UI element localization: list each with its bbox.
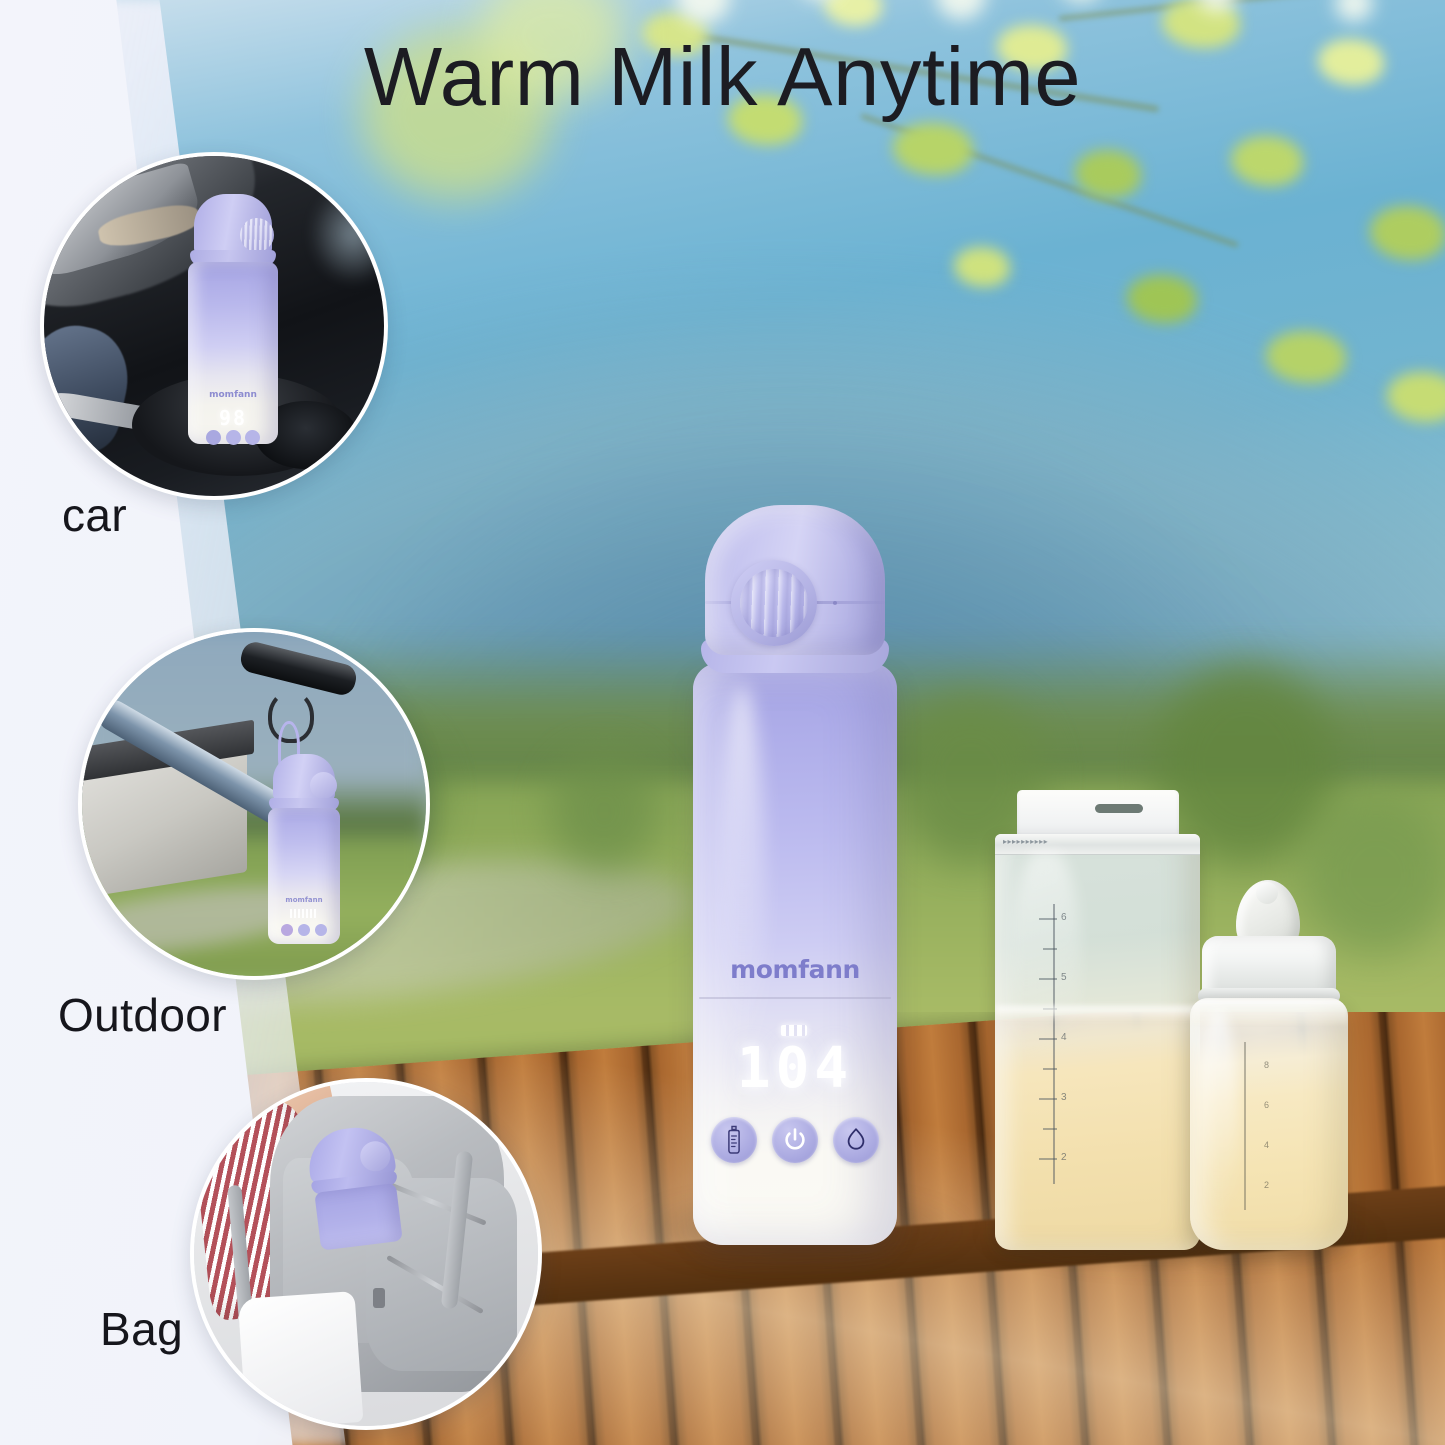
storage-bag-scale (1053, 904, 1055, 1184)
scale-tick (1043, 948, 1057, 950)
scale-number: 4 (1264, 1140, 1269, 1150)
base-seam-line (699, 997, 891, 999)
scale-tick (1039, 1098, 1057, 1100)
storage-bag-body: ▸▸▸▸▸▸▸▸▸▸ 6 5 4 3 2 (995, 834, 1200, 1250)
mini-display-car: 98 (188, 406, 278, 430)
baby-bottle-body: 8 6 4 2 (1190, 998, 1348, 1250)
bottle-scale (1244, 1042, 1246, 1210)
inset-bag[interactable] (190, 1078, 542, 1430)
vent-dot-icon (833, 601, 837, 605)
scale-number: 3 (1061, 1092, 1067, 1103)
mini-bottle-outdoor: momfann (268, 754, 340, 944)
scale-number: 2 (1264, 1180, 1269, 1190)
bottle-warmer[interactable]: momfann 104 (693, 505, 897, 1245)
bottle-mode-button[interactable] (711, 1117, 757, 1163)
scale-number: 4 (1061, 1032, 1067, 1043)
inset-label-outdoor: Outdoor (58, 988, 227, 1042)
scale-number: 2 (1061, 1152, 1067, 1163)
scale-number: 5 (1061, 972, 1067, 983)
scale-tick (1043, 1068, 1057, 1070)
gear-shifter (40, 317, 137, 458)
inset-label-car: car (62, 488, 127, 542)
nipple-tip (1256, 882, 1278, 904)
power-icon (782, 1127, 808, 1153)
milk-surface-line (995, 1006, 1200, 1020)
zipper-pull (373, 1288, 385, 1308)
tree-blob (549, 751, 659, 871)
baby-bottle-icon (723, 1125, 745, 1155)
breast-milk-storage-bag: ▸▸▸▸▸▸▸▸▸▸ 6 5 4 3 2 (995, 790, 1200, 1250)
scale-tick (1039, 1158, 1057, 1160)
scale-number: 6 (1264, 1100, 1269, 1110)
hang-hole (1095, 804, 1143, 813)
brand-logo: momfann (693, 955, 897, 984)
water-mode-button[interactable] (833, 1117, 879, 1163)
scale-number: 8 (1264, 1060, 1269, 1070)
led-display: 104 (731, 1025, 859, 1105)
white-towel (238, 1291, 364, 1430)
bottle-sheen (1198, 1008, 1238, 1228)
window-light (309, 183, 388, 285)
cap-twist-knob[interactable] (740, 569, 808, 637)
temperature-readout: 104 (731, 1041, 859, 1097)
storage-bag-sheen (1011, 851, 1081, 1126)
scale-tick (1039, 978, 1057, 980)
inset-label-bag: Bag (100, 1302, 183, 1356)
zip-seal-text: ▸▸▸▸▸▸▸▸▸▸ (1003, 837, 1048, 846)
baby-bottle: 8 6 4 2 (1180, 880, 1358, 1255)
scale-tick (1039, 918, 1057, 920)
storage-bag-zipper: ▸▸▸▸▸▸▸▸▸▸ (995, 834, 1200, 855)
storage-bag-hang-tab (1017, 790, 1179, 838)
mini-brand-car: momfann (188, 390, 278, 400)
outdoor-scene: momfann (82, 632, 426, 976)
power-button[interactable] (772, 1117, 818, 1163)
water-drop-icon (844, 1126, 868, 1154)
scale-number: 6 (1061, 912, 1067, 923)
scale-tick (1043, 1128, 1057, 1130)
mini-bottle-bag (305, 1123, 405, 1253)
page-title: Warm Milk Anytime (0, 33, 1445, 121)
mini-bottle-car: momfann 98 (188, 194, 278, 444)
mini-brand-outdoor: momfann (268, 896, 340, 904)
scale-tick (1039, 1038, 1057, 1040)
control-buttons (711, 1117, 879, 1163)
battery-icon (781, 1025, 807, 1036)
inset-car[interactable]: momfann 98 (40, 152, 388, 500)
diaper-bag-scene (194, 1082, 538, 1426)
car-interior: momfann 98 (44, 156, 384, 496)
inset-outdoor[interactable]: momfann (78, 628, 430, 980)
product-poster: Warm Milk Anytime momfann 98 (0, 0, 1445, 1445)
